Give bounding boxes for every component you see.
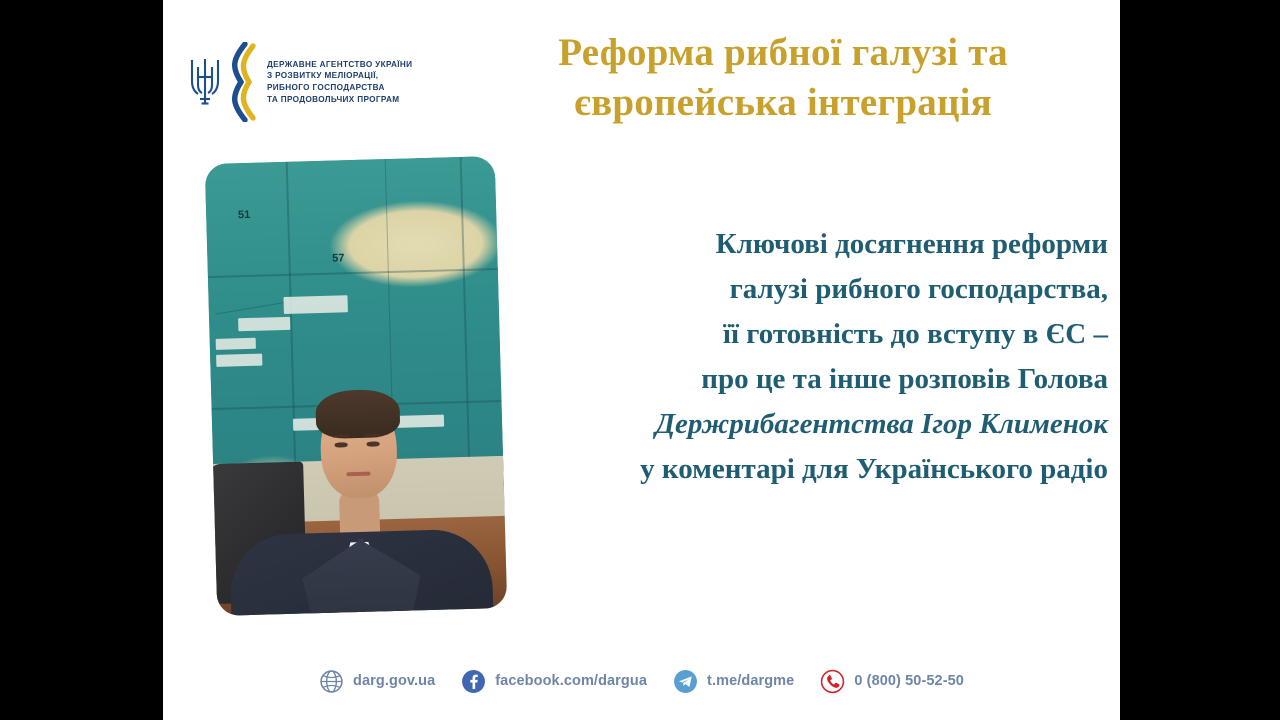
person-eye-left bbox=[335, 442, 348, 447]
footer-label-facebook: facebook.com/dargua bbox=[495, 673, 647, 689]
logo-text-line-1: ДЕРЖАВНЕ АГЕНТСТВО УКРАЇНИ bbox=[267, 59, 412, 71]
body-line-1: Ключові досягнення реформи bbox=[508, 222, 1108, 267]
agency-logo-text: ДЕРЖАВНЕ АГЕНТСТВО УКРАЇНИ З РОЗВИТКУ МЕ… bbox=[267, 59, 412, 105]
footer-item-phone[interactable]: 0 (800) 50-52-50 bbox=[820, 669, 964, 694]
map-label-51: 51 bbox=[238, 209, 251, 221]
page-title: Реформа рибної галузі та європейська інт… bbox=[463, 28, 1103, 128]
globe-icon bbox=[319, 669, 344, 694]
body-line-3: її готовність до вступу в ЄС – bbox=[508, 312, 1108, 357]
body-line-6: у коментарі для Українського радіо bbox=[508, 447, 1108, 492]
portrait-photo: 51 57 bbox=[205, 156, 508, 616]
footer-label-phone: 0 (800) 50-52-50 bbox=[854, 673, 964, 689]
person-mouth bbox=[346, 472, 370, 477]
footer-contacts: darg.gov.ua facebook.com/dargua t.me/dar… bbox=[163, 655, 1120, 707]
page-title-line-1: Реформа рибної галузі та bbox=[463, 28, 1103, 78]
ukrainian-trident-emblem bbox=[188, 55, 222, 109]
footer-label-telegram: t.me/dargme bbox=[707, 673, 794, 689]
page-title-line-2: європейська інтеграція bbox=[463, 78, 1103, 128]
telegram-icon bbox=[673, 669, 698, 694]
footer-item-facebook[interactable]: facebook.com/dargua bbox=[461, 669, 647, 694]
body-line-5: Держрибагентства Ігор Клименок bbox=[508, 402, 1108, 447]
body-text: Ключові досягнення реформи галузі рибног… bbox=[508, 222, 1108, 492]
person-eyebrow-left bbox=[332, 434, 349, 437]
body-line-4: про це та інше розповів Голова bbox=[508, 357, 1108, 402]
person-hair bbox=[315, 389, 400, 439]
agency-logo: ДЕРЖАВНЕ АГЕНТСТВО УКРАЇНИ З РОЗВИТКУ МЕ… bbox=[188, 42, 468, 122]
footer-item-telegram[interactable]: t.me/dargme bbox=[673, 669, 794, 694]
person-eye-right bbox=[367, 441, 380, 446]
logo-text-line-4: ТА ПРОДОВОЛЬЧИХ ПРОГРАМ bbox=[267, 94, 412, 106]
map-label-57: 57 bbox=[332, 253, 345, 265]
person-eyebrow-right bbox=[364, 433, 381, 436]
facebook-icon bbox=[461, 669, 486, 694]
logo-text-line-3: РИБНОГО ГОСПОДАРСТВА bbox=[267, 82, 412, 94]
body-line-2: галузі рибного господарства, bbox=[508, 267, 1108, 312]
video-frame: ДЕРЖАВНЕ АГЕНТСТВО УКРАЇНИ З РОЗВИТКУ МЕ… bbox=[0, 0, 1280, 720]
slide-content: ДЕРЖАВНЕ АГЕНТСТВО УКРАЇНИ З РОЗВИТКУ МЕ… bbox=[163, 0, 1120, 720]
footer-item-website[interactable]: darg.gov.ua bbox=[319, 669, 435, 694]
phone-icon bbox=[820, 669, 845, 694]
blue-yellow-swoosh bbox=[228, 42, 258, 122]
footer-label-website: darg.gov.ua bbox=[353, 673, 435, 689]
logo-text-line-2: З РОЗВИТКУ МЕЛІОРАЦІЇ, bbox=[267, 70, 412, 82]
